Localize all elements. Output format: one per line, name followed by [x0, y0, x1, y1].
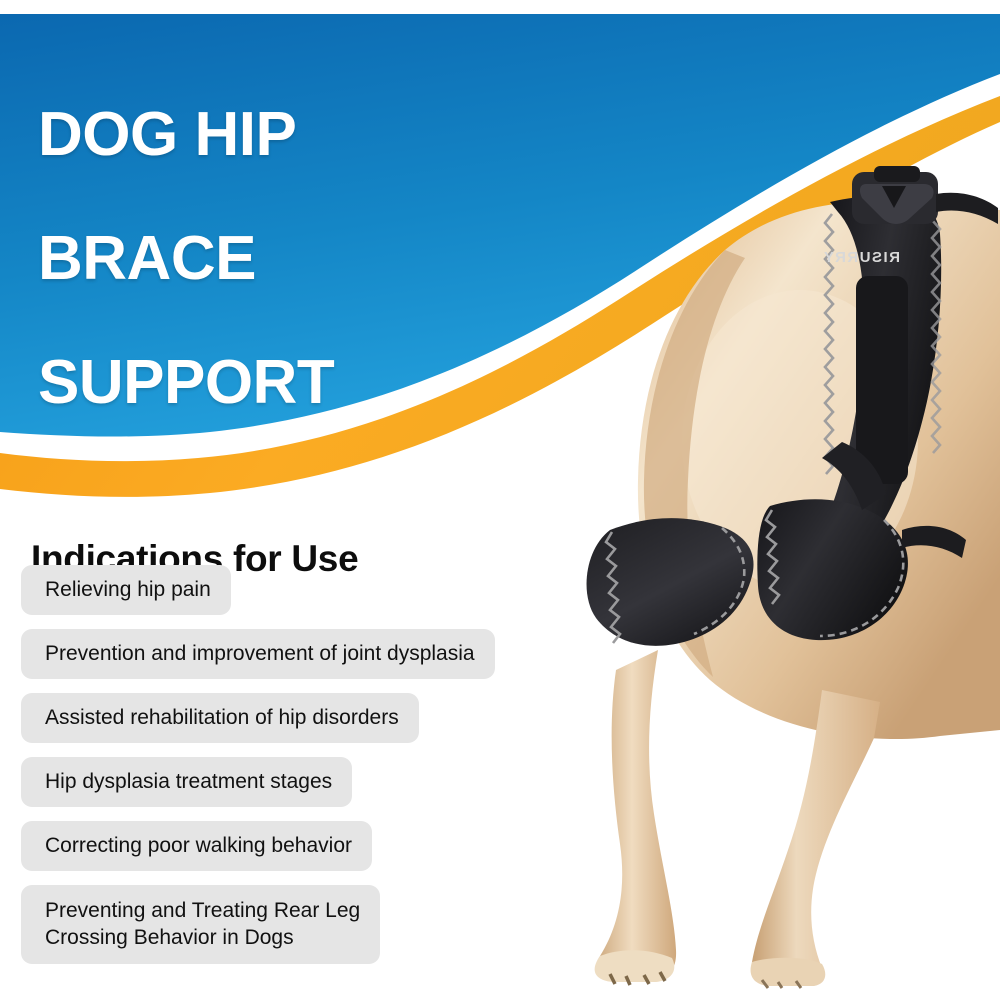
dog-leg-far: [751, 690, 880, 988]
list-item: Correcting poor walking behavior: [21, 821, 372, 871]
list-item: Assisted rehabilitation of hip disorders: [21, 693, 419, 743]
list-item: Preventing and Treating Rear Leg Crossin…: [21, 885, 380, 964]
indications-list: Relieving hip pain Prevention and improv…: [21, 565, 521, 978]
list-item: Relieving hip pain: [21, 565, 231, 615]
dog-body: [638, 201, 1000, 739]
strap-brand-label: RISURRY: [823, 249, 900, 266]
product-poster: DOG HIP BRACE SUPPORT: [0, 0, 1000, 1000]
list-item: Prevention and improvement of joint dysp…: [21, 629, 495, 679]
product-photo: RISURRY: [470, 150, 1000, 1000]
dog-leg-near: [595, 650, 676, 985]
list-item: Hip dysplasia treatment stages: [21, 757, 352, 807]
